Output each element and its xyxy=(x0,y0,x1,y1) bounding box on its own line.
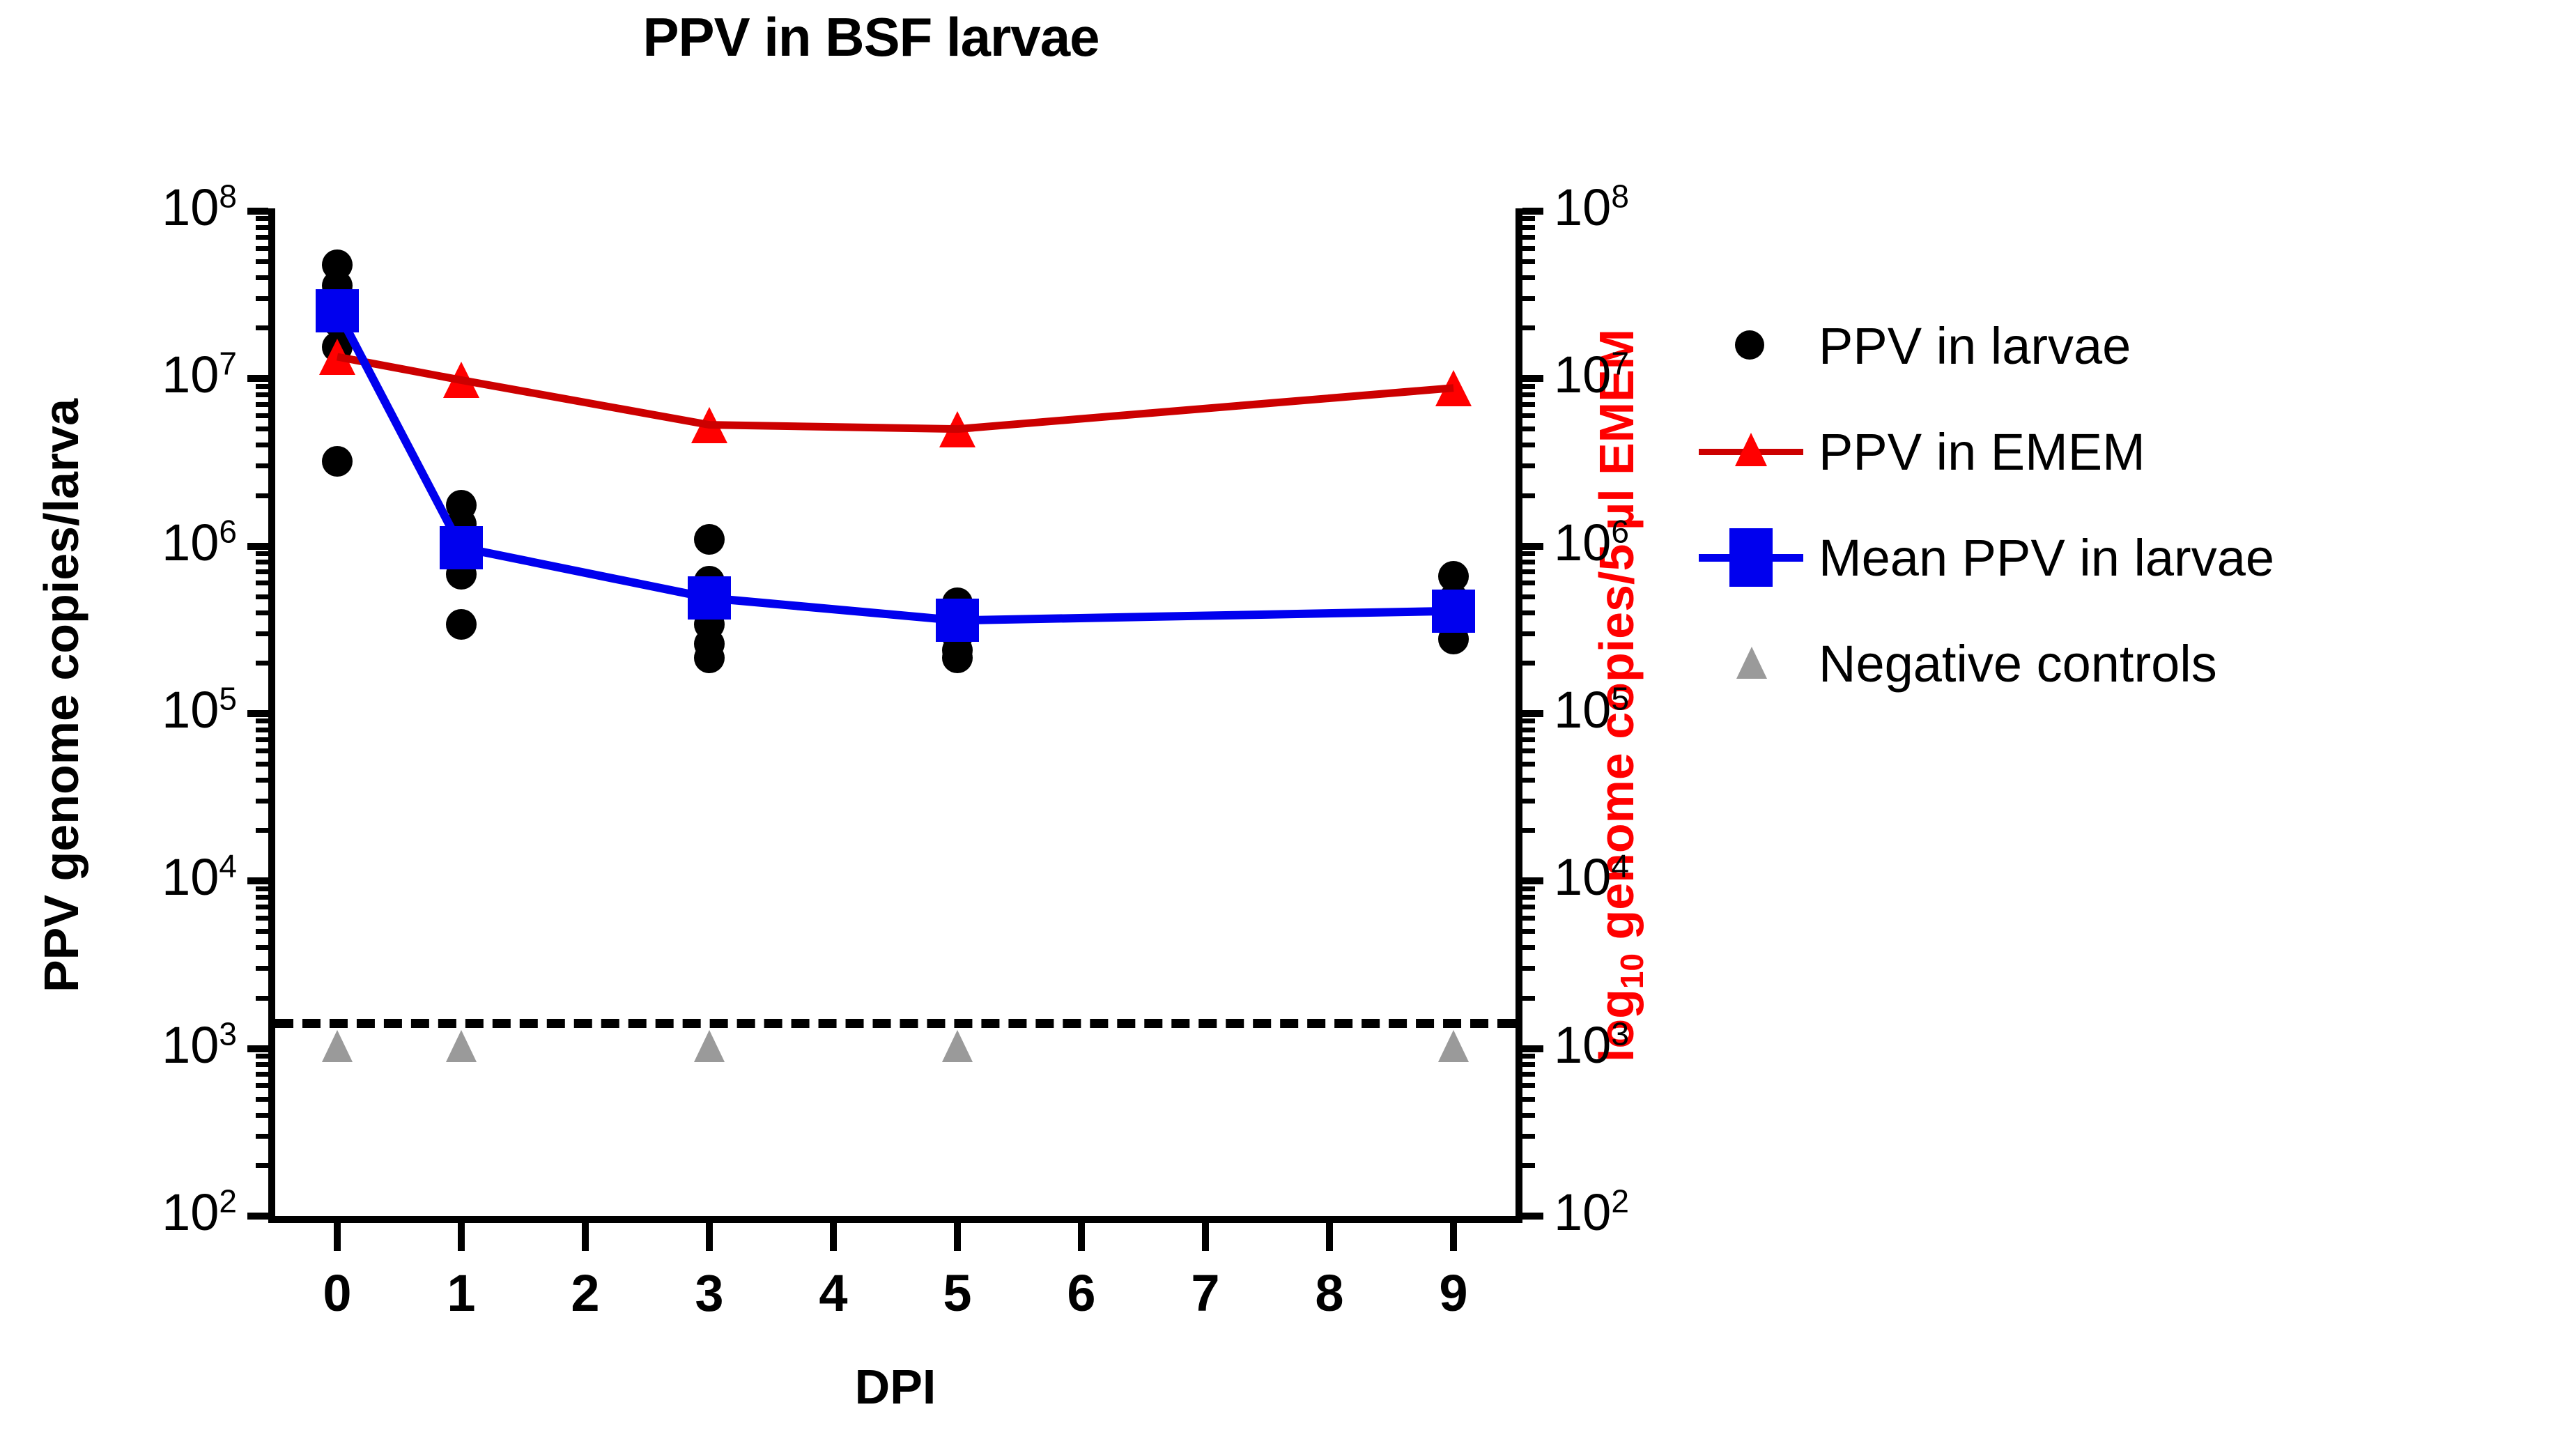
y-tick-minor xyxy=(256,581,268,585)
y-tick-label: 102 xyxy=(1554,1187,1629,1238)
y-tick-minor xyxy=(256,1097,268,1102)
y-tick-major xyxy=(247,877,268,884)
y-tick-minor xyxy=(1522,1083,1535,1088)
y-tick-minor xyxy=(1522,916,1535,921)
y-tick-minor xyxy=(256,1072,268,1077)
y-tick-minor xyxy=(256,560,268,564)
y-tick-minor xyxy=(1522,225,1535,230)
legend-item-ppv-in-emem[interactable]: PPV in EMEM xyxy=(1686,399,2543,505)
emem-marker xyxy=(1435,370,1472,406)
y-tick-minor xyxy=(256,945,268,950)
legend-label-ppv-in-emem: PPV in EMEM xyxy=(1819,422,2145,482)
y-tick-major xyxy=(247,543,268,550)
y-tick-minor xyxy=(256,895,268,900)
y-tick-minor xyxy=(1522,737,1535,742)
y-tick-minor xyxy=(1522,966,1535,971)
right-axis-spine xyxy=(1515,208,1522,1219)
y-tick-minor xyxy=(256,748,268,753)
y-axis-right-subscript: 10 xyxy=(1614,953,1650,989)
y-tick-major xyxy=(1522,208,1543,215)
legend-key-red-triangle xyxy=(1686,410,1819,493)
y-tick-minor xyxy=(256,905,268,909)
y-tick-minor xyxy=(1522,259,1535,264)
y-tick-label: 107 xyxy=(162,349,237,401)
negative-control-marker xyxy=(942,1030,973,1062)
x-tick xyxy=(458,1223,465,1251)
x-tick xyxy=(1326,1223,1333,1251)
y-tick-minor xyxy=(1522,1054,1535,1059)
y-tick-minor xyxy=(256,402,268,407)
y-tick-minor xyxy=(256,275,268,280)
legend-label-negative-controls: Negative controls xyxy=(1819,634,2217,693)
x-tick-label: 4 xyxy=(792,1263,875,1323)
y-tick-major xyxy=(247,1213,268,1220)
y-tick-minor xyxy=(256,443,268,447)
y-tick-label: 108 xyxy=(1554,182,1629,233)
x-tick xyxy=(582,1223,589,1251)
y-tick-minor xyxy=(1522,778,1535,783)
emem-marker xyxy=(319,339,355,375)
mean-marker xyxy=(1432,590,1475,633)
y-tick-minor xyxy=(256,569,268,574)
legend-item-mean-ppv-in-larvae[interactable]: Mean PPV in larvae xyxy=(1686,505,2543,610)
y-tick-minor xyxy=(1522,728,1535,732)
y-tick-minor xyxy=(256,610,268,615)
y-tick-minor xyxy=(1522,296,1535,301)
mean-marker xyxy=(316,289,359,332)
negative-control-marker xyxy=(322,1030,353,1062)
x-tick-label: 1 xyxy=(419,1263,503,1323)
y-tick-minor xyxy=(1522,945,1535,950)
y-tick-minor xyxy=(1522,463,1535,468)
y-tick-label: 105 xyxy=(162,684,237,736)
larvae-data-point xyxy=(694,524,725,555)
y-tick-major xyxy=(247,1045,268,1052)
x-tick xyxy=(1450,1223,1457,1251)
series-line xyxy=(337,311,1453,621)
x-tick-label: 8 xyxy=(1288,1263,1371,1323)
x-tick-label: 0 xyxy=(295,1263,379,1323)
y-tick-major xyxy=(247,710,268,717)
y-tick-label: 106 xyxy=(162,517,237,569)
larvae-data-point xyxy=(942,643,973,673)
y-tick-major xyxy=(247,375,268,382)
y-tick-major xyxy=(1522,710,1543,717)
y-tick-minor xyxy=(256,259,268,264)
y-tick-minor xyxy=(256,246,268,251)
y-tick-major xyxy=(247,208,268,215)
y-tick-minor xyxy=(256,1083,268,1088)
y-tick-minor xyxy=(1522,631,1535,636)
y-tick-minor xyxy=(1522,661,1535,666)
negative-control-marker xyxy=(446,1030,477,1062)
negative-control-marker xyxy=(694,1030,725,1062)
y-tick-minor xyxy=(1522,718,1535,723)
y-tick-minor xyxy=(1522,748,1535,753)
chart-page: PPV in BSF larvae PPV genome copies/larv… xyxy=(0,0,2576,1453)
y-tick-minor xyxy=(256,493,268,498)
y-tick-label: 104 xyxy=(1554,852,1629,903)
y-tick-major xyxy=(1522,1045,1543,1052)
y-tick-minor xyxy=(1522,426,1535,431)
y-tick-minor xyxy=(256,384,268,389)
y-tick-minor xyxy=(256,325,268,330)
legend-key-gray-triangle xyxy=(1686,622,1819,705)
y-tick-label: 104 xyxy=(162,852,237,903)
y-tick-label: 103 xyxy=(162,1020,237,1071)
bottom-axis-spine xyxy=(268,1216,1522,1223)
y-tick-minor xyxy=(256,216,268,221)
larvae-data-point xyxy=(322,446,353,477)
y-axis-title-left: PPV genome copies/larva xyxy=(33,208,89,1183)
x-axis-title: DPI xyxy=(275,1359,1515,1415)
y-tick-minor xyxy=(1522,275,1535,280)
left-axis-spine xyxy=(268,208,275,1219)
y-tick-minor xyxy=(256,728,268,732)
y-tick-minor xyxy=(1522,886,1535,891)
y-tick-minor xyxy=(256,631,268,636)
x-tick-label: 9 xyxy=(1412,1263,1495,1323)
y-tick-minor xyxy=(256,296,268,301)
y-tick-minor xyxy=(1522,325,1535,330)
y-tick-minor xyxy=(1522,235,1535,240)
x-tick xyxy=(334,1223,341,1251)
x-tick-label: 6 xyxy=(1040,1263,1123,1323)
y-tick-minor xyxy=(1522,1113,1535,1118)
y-tick-minor xyxy=(1522,569,1535,574)
y-tick-label: 102 xyxy=(162,1187,237,1238)
y-tick-minor xyxy=(1522,551,1535,556)
y-tick-minor xyxy=(256,916,268,921)
triangle-marker-icon xyxy=(1736,647,1767,679)
y-tick-minor xyxy=(256,1062,268,1067)
y-tick-minor xyxy=(1522,560,1535,564)
y-tick-minor xyxy=(256,1054,268,1059)
y-tick-minor xyxy=(1522,392,1535,397)
y-tick-minor xyxy=(1522,1134,1535,1139)
limit-of-detection-line xyxy=(275,1019,1515,1028)
y-tick-minor xyxy=(256,996,268,1001)
y-tick-minor xyxy=(256,426,268,431)
y-tick-minor xyxy=(1522,581,1535,585)
y-tick-minor xyxy=(256,966,268,971)
y-tick-minor xyxy=(1522,1097,1535,1102)
mean-marker xyxy=(688,576,731,620)
emem-marker xyxy=(939,411,975,447)
y-tick-minor xyxy=(1522,443,1535,447)
legend-label-mean-ppv-in-larvae: Mean PPV in larvae xyxy=(1819,528,2274,587)
y-tick-minor xyxy=(256,594,268,599)
legend-key-blue-square xyxy=(1686,516,1819,599)
y-tick-label: 105 xyxy=(1554,684,1629,736)
y-tick-minor xyxy=(1522,413,1535,418)
y-tick-minor xyxy=(256,392,268,397)
x-tick xyxy=(706,1223,713,1251)
y-tick-minor xyxy=(256,929,268,934)
y-tick-minor xyxy=(1522,402,1535,407)
y-tick-label: 107 xyxy=(1554,349,1629,401)
y-tick-minor xyxy=(256,551,268,556)
y-tick-minor xyxy=(1522,1072,1535,1077)
y-tick-minor xyxy=(256,1134,268,1139)
y-tick-minor xyxy=(1522,493,1535,498)
y-tick-minor xyxy=(256,828,268,833)
y-tick-minor xyxy=(1522,384,1535,389)
legend-label-ppv-in-larvae: PPV in larvae xyxy=(1819,316,2131,376)
x-tick-label: 3 xyxy=(668,1263,751,1323)
y-tick-minor xyxy=(1522,762,1535,767)
y-tick-major xyxy=(1522,1213,1543,1220)
x-tick xyxy=(1078,1223,1085,1251)
chart-title: PPV in BSF larvae xyxy=(209,6,1533,69)
mean-marker xyxy=(936,599,979,642)
y-tick-minor xyxy=(1522,1062,1535,1067)
y-tick-minor xyxy=(256,762,268,767)
y-tick-minor xyxy=(1522,996,1535,1001)
triangle-marker-icon xyxy=(1735,433,1767,466)
x-tick xyxy=(830,1223,837,1251)
x-tick-label: 2 xyxy=(543,1263,627,1323)
y-tick-minor xyxy=(1522,905,1535,909)
y-tick-minor xyxy=(256,1113,268,1118)
legend-item-ppv-in-larvae[interactable]: PPV in larvae xyxy=(1686,293,2543,399)
plot-area: 108107106105104103102 108107106105104103… xyxy=(275,211,1515,1216)
y-tick-minor xyxy=(256,1163,268,1168)
y-tick-major xyxy=(1522,877,1543,884)
legend-key-black-dot xyxy=(1686,304,1819,387)
y-tick-minor xyxy=(1522,1163,1535,1168)
y-tick-minor xyxy=(1522,610,1535,615)
y-tick-minor xyxy=(256,661,268,666)
x-tick xyxy=(954,1223,961,1251)
mean-marker xyxy=(440,526,483,569)
y-tick-minor xyxy=(256,886,268,891)
x-tick xyxy=(1202,1223,1209,1251)
y-tick-major xyxy=(1522,375,1543,382)
y-tick-minor xyxy=(256,413,268,418)
series-line xyxy=(337,357,1453,429)
circle-marker-icon xyxy=(1735,330,1764,360)
y-tick-minor xyxy=(1522,895,1535,900)
y-tick-minor xyxy=(256,225,268,230)
y-tick-label: 106 xyxy=(1554,517,1629,569)
larvae-data-point xyxy=(446,609,477,640)
y-tick-minor xyxy=(1522,799,1535,804)
emem-marker xyxy=(443,362,479,398)
chart-legend: PPV in larvae PPV in EMEM Mean PPV in la… xyxy=(1686,293,2543,716)
y-tick-minor xyxy=(1522,216,1535,221)
y-tick-minor xyxy=(1522,594,1535,599)
y-tick-minor xyxy=(1522,246,1535,251)
legend-item-negative-controls[interactable]: Negative controls xyxy=(1686,610,2543,716)
x-tick-label: 5 xyxy=(916,1263,999,1323)
negative-control-marker xyxy=(1438,1030,1469,1062)
square-marker-icon xyxy=(1729,528,1773,587)
y-tick-minor xyxy=(256,778,268,783)
y-tick-minor xyxy=(256,718,268,723)
y-tick-minor xyxy=(1522,929,1535,934)
y-tick-minor xyxy=(256,463,268,468)
larvae-data-point xyxy=(694,643,725,673)
y-tick-minor xyxy=(256,799,268,804)
x-tick-label: 7 xyxy=(1164,1263,1247,1323)
emem-marker xyxy=(691,407,727,443)
y-tick-major xyxy=(1522,543,1543,550)
y-tick-label: 108 xyxy=(162,182,237,233)
y-tick-minor xyxy=(1522,828,1535,833)
y-tick-minor xyxy=(256,235,268,240)
y-tick-minor xyxy=(256,737,268,742)
y-tick-label: 103 xyxy=(1554,1020,1629,1071)
